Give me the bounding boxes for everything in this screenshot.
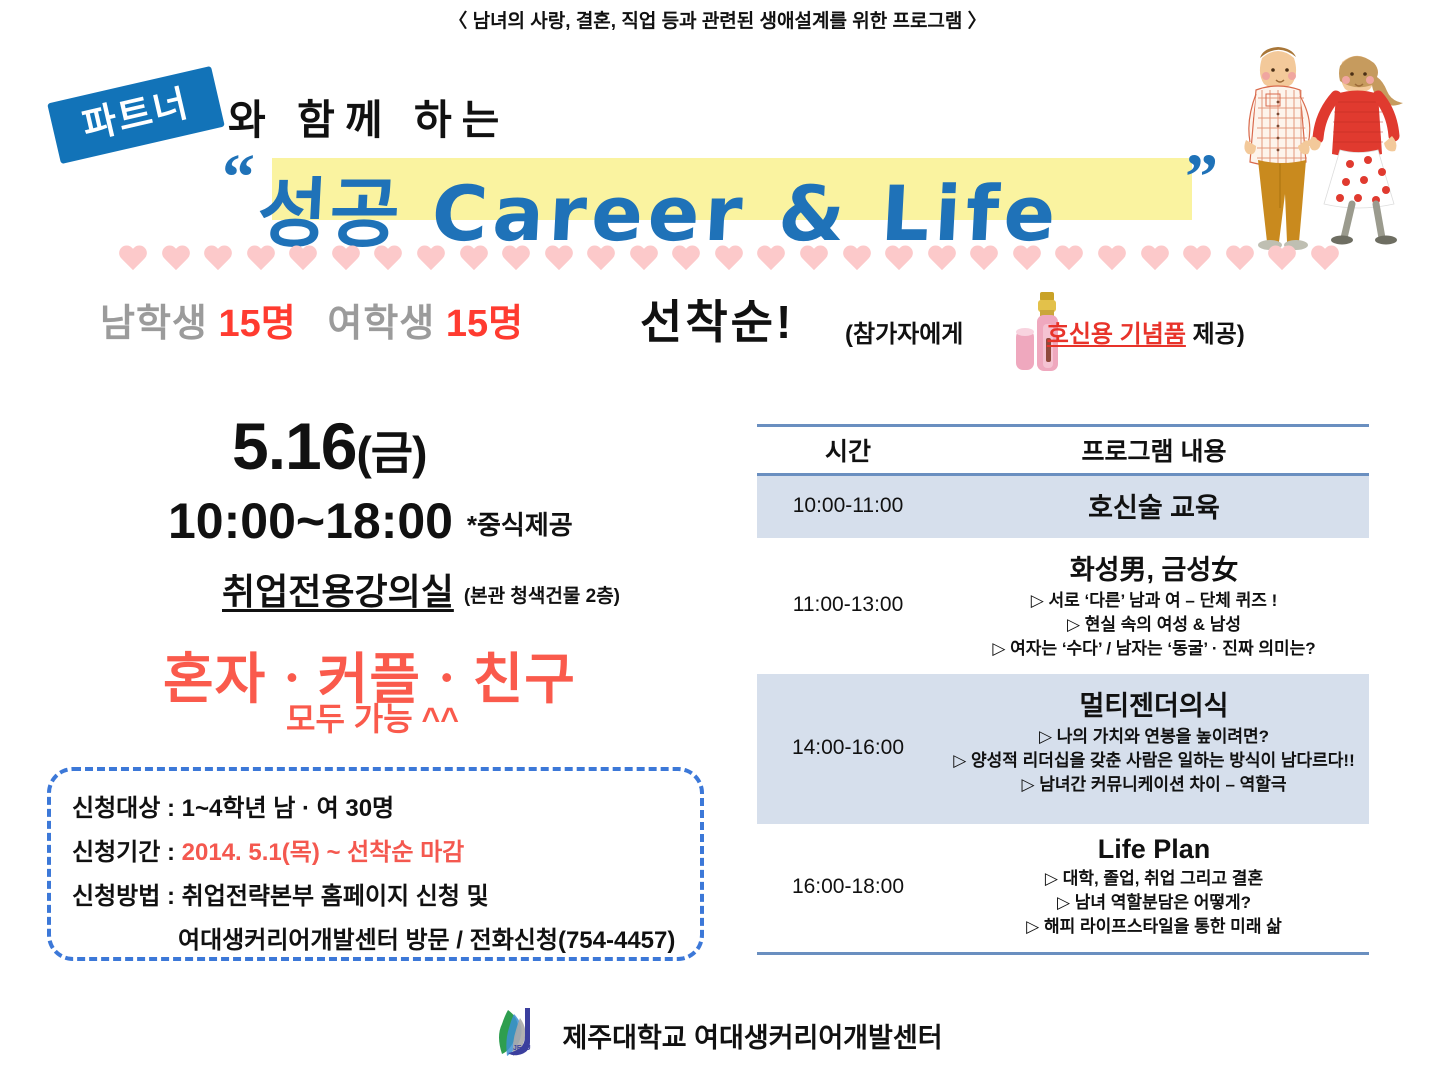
footer-organization: 제주대학교 여대생커리어개발센터 — [562, 1016, 942, 1055]
heart-icon — [927, 246, 957, 278]
apply-period-line: 신청기간 : 2014. 5.1(목) ~ 선착순 마감 — [72, 832, 464, 867]
female-label: 여학생 — [327, 303, 435, 345]
row-bullets: ▷ 서로 ‘다른’ 남과 여 – 단체 퀴즈 ! ▷ 현실 속의 여성 & 남성… — [939, 589, 1369, 661]
heart-icon — [246, 246, 276, 278]
row-time: 11:00-13:00 — [757, 548, 939, 662]
gift-note-suffix: 제공) — [1193, 321, 1245, 348]
row-bullet: ▷ 남녀간 커뮤니케이션 차이 – 역할극 — [939, 773, 1369, 797]
heart-icon — [161, 246, 191, 278]
header-time: 시간 — [757, 432, 939, 468]
heart-icon — [203, 246, 233, 278]
table-row: 14:00-16:00 멀티젠더의식 ▷ 나의 가치와 연봉을 높이려면? ▷ … — [757, 674, 1369, 824]
event-date: 5.16(금) — [232, 408, 426, 484]
heart-icon — [1140, 246, 1170, 278]
heart-icon — [331, 246, 361, 278]
apply-method-line: 신청방법 : 취업전략본부 홈페이지 신청 및 — [72, 876, 489, 911]
apply-method-value: 취업전략본부 홈페이지 신청 및 — [182, 883, 489, 910]
row-program: 멀티젠더의식 ▷ 나의 가치와 연봉을 높이려면? ▷ 양성적 리더십을 갖춘 … — [939, 684, 1369, 812]
row-bullets: ▷ 나의 가치와 연봉을 높이려면? ▷ 양성적 리더십을 갖춘 사람은 일하는… — [939, 725, 1369, 797]
row-bullet: ▷ 현실 속의 여성 & 남성 — [939, 613, 1369, 637]
apply-target-label: 신청대상 : — [72, 795, 182, 822]
partner-badge: 파트너 — [47, 66, 225, 164]
heart-icon — [629, 246, 659, 278]
row-bullet: ▷ 남녀 역할분담은 어떻게? — [939, 891, 1369, 915]
male-label: 남학생 — [100, 303, 208, 345]
logo-text: JEJU — [513, 1045, 531, 1052]
apply-method-line-2: 여대생커리어개발센터 방문 / 전화신청(754-4457) — [178, 920, 675, 955]
heart-icon — [373, 246, 403, 278]
poster-root: 〈 남녀의 사랑, 결혼, 직업 등과 관련된 생애설계를 위한 프로그램 〉 … — [0, 0, 1435, 1076]
table-bottom-border — [757, 952, 1369, 955]
row-program: 화성男, 금성女 ▷ 서로 ‘다른’ 남과 여 – 단체 퀴즈 ! ▷ 현실 속… — [939, 548, 1369, 662]
lunch-note: *중식제공 — [467, 510, 573, 540]
venue-detail: (본관 청색건물 2층) — [464, 586, 620, 607]
top-caption: 〈 남녀의 사랑, 결혼, 직업 등과 관련된 생애설계를 위한 프로그램 〉 — [0, 6, 1435, 33]
heart-icon — [501, 246, 531, 278]
heart-icon — [288, 246, 318, 278]
heart-icon — [969, 246, 999, 278]
event-date-number: 5.16 — [232, 409, 356, 483]
gift-name: 호신용 기념품 — [1047, 321, 1186, 348]
row-bullet: ▷ 양성적 리더십을 갖춘 사람은 일하는 방식이 남다르다!! — [939, 749, 1369, 773]
heart-icon — [118, 246, 148, 278]
heart-icon — [416, 246, 446, 278]
quota-line: 남학생 15명 여학생 15명 — [100, 292, 523, 347]
event-time: 10:00~18:00 *중식제공 — [168, 492, 573, 550]
row-bullet: ▷ 해피 라이프스타일을 통한 미래 삶 — [939, 915, 1369, 939]
heart-icon — [1182, 246, 1212, 278]
row-bullet: ▷ 서로 ‘다른’ 남과 여 – 단체 퀴즈 ! — [939, 589, 1369, 613]
heart-icon — [799, 246, 829, 278]
heart-icon — [842, 246, 872, 278]
header-program: 프로그램 내용 — [939, 432, 1369, 468]
row-time: 14:00-16:00 — [757, 684, 939, 812]
row-program-title: 호신술 교육 — [939, 486, 1369, 525]
footer: JEJU 제주대학교 여대생커리어개발센터 — [0, 1004, 1435, 1066]
event-day-of-week: (금) — [356, 427, 426, 479]
apply-target-line: 신청대상 : 1~4학년 남 · 여 30명 — [72, 788, 394, 823]
headline-suffix: 와 함께 하는 — [228, 86, 509, 146]
table-row: 11:00-13:00 화성男, 금성女 ▷ 서로 ‘다른’ 남과 여 – 단체… — [757, 538, 1369, 674]
heart-icon — [714, 246, 744, 278]
female-count: 15명 — [446, 303, 523, 345]
heart-icon — [756, 246, 786, 278]
heart-icon — [671, 246, 701, 278]
quote-open-mark: “ — [222, 140, 255, 216]
participation-types-sub: 모두 가능 ^^ — [286, 694, 459, 740]
event-venue: 취업전용강의실 (본관 청색건물 2층) — [222, 563, 620, 615]
partner-badge-label: 파트너 — [47, 66, 225, 164]
row-program: Life Plan ▷ 대학, 졸업, 취업 그리고 결혼 ▷ 남녀 역할분담은… — [939, 834, 1369, 940]
apply-period-value: 2014. 5.1(목) ~ 선착순 마감 — [182, 839, 465, 866]
heart-icon — [586, 246, 616, 278]
heart-icon — [1267, 246, 1297, 278]
gift-note-prefix: (참가자에게 — [845, 321, 963, 348]
hearts-divider — [118, 246, 1340, 282]
table-row: 16:00-18:00 Life Plan ▷ 대학, 졸업, 취업 그리고 결… — [757, 824, 1369, 952]
table-header-row: 시간 프로그램 내용 — [757, 424, 1369, 476]
heart-icon — [1310, 246, 1340, 278]
heart-icon — [1097, 246, 1127, 278]
event-time-range: 10:00~18:00 — [168, 493, 453, 549]
row-bullet: ▷ 대학, 졸업, 취업 그리고 결혼 — [939, 867, 1369, 891]
heart-icon — [1054, 246, 1084, 278]
apply-target-value: 1~4학년 남 · 여 30명 — [182, 795, 394, 822]
row-program: 호신술 교육 — [939, 486, 1369, 526]
row-time: 10:00-11:00 — [757, 486, 939, 526]
jeju-university-logo-icon: JEJU — [492, 1004, 548, 1066]
heart-icon — [544, 246, 574, 278]
row-bullets: ▷ 대학, 졸업, 취업 그리고 결혼 ▷ 남녀 역할분담은 어떻게? ▷ 해피… — [939, 867, 1369, 939]
heart-icon — [459, 246, 489, 278]
heart-icon — [1012, 246, 1042, 278]
row-bullet: ▷ 나의 가치와 연봉을 높이려면? — [939, 725, 1369, 749]
gift-note: (참가자에게 호신용 기념품 제공) — [845, 314, 1245, 349]
heart-icon — [1225, 246, 1255, 278]
apply-period-label: 신청기간 : — [72, 839, 182, 866]
row-program-title: 멀티젠더의식 — [939, 684, 1369, 723]
heart-icon — [884, 246, 914, 278]
couple-illustration — [1200, 32, 1420, 254]
venue-name: 취업전용강의실 — [222, 571, 454, 612]
row-program-title: 화성男, 금성女 — [939, 548, 1369, 587]
row-time: 16:00-18:00 — [757, 834, 939, 940]
schedule-table: 시간 프로그램 내용 10:00-11:00 호신술 교육 11:00-13:0… — [757, 424, 1369, 955]
table-row: 10:00-11:00 호신술 교육 — [757, 476, 1369, 538]
apply-method-label: 신청방법 : — [72, 883, 182, 910]
row-bullet: ▷ 여자는 ‘수다’ / 남자는 ‘동굴’ · 진짜 의미는? — [939, 637, 1369, 661]
first-come-first-served: 선착순! — [640, 286, 794, 352]
row-program-title: Life Plan — [939, 834, 1369, 865]
male-count: 15명 — [218, 303, 295, 345]
